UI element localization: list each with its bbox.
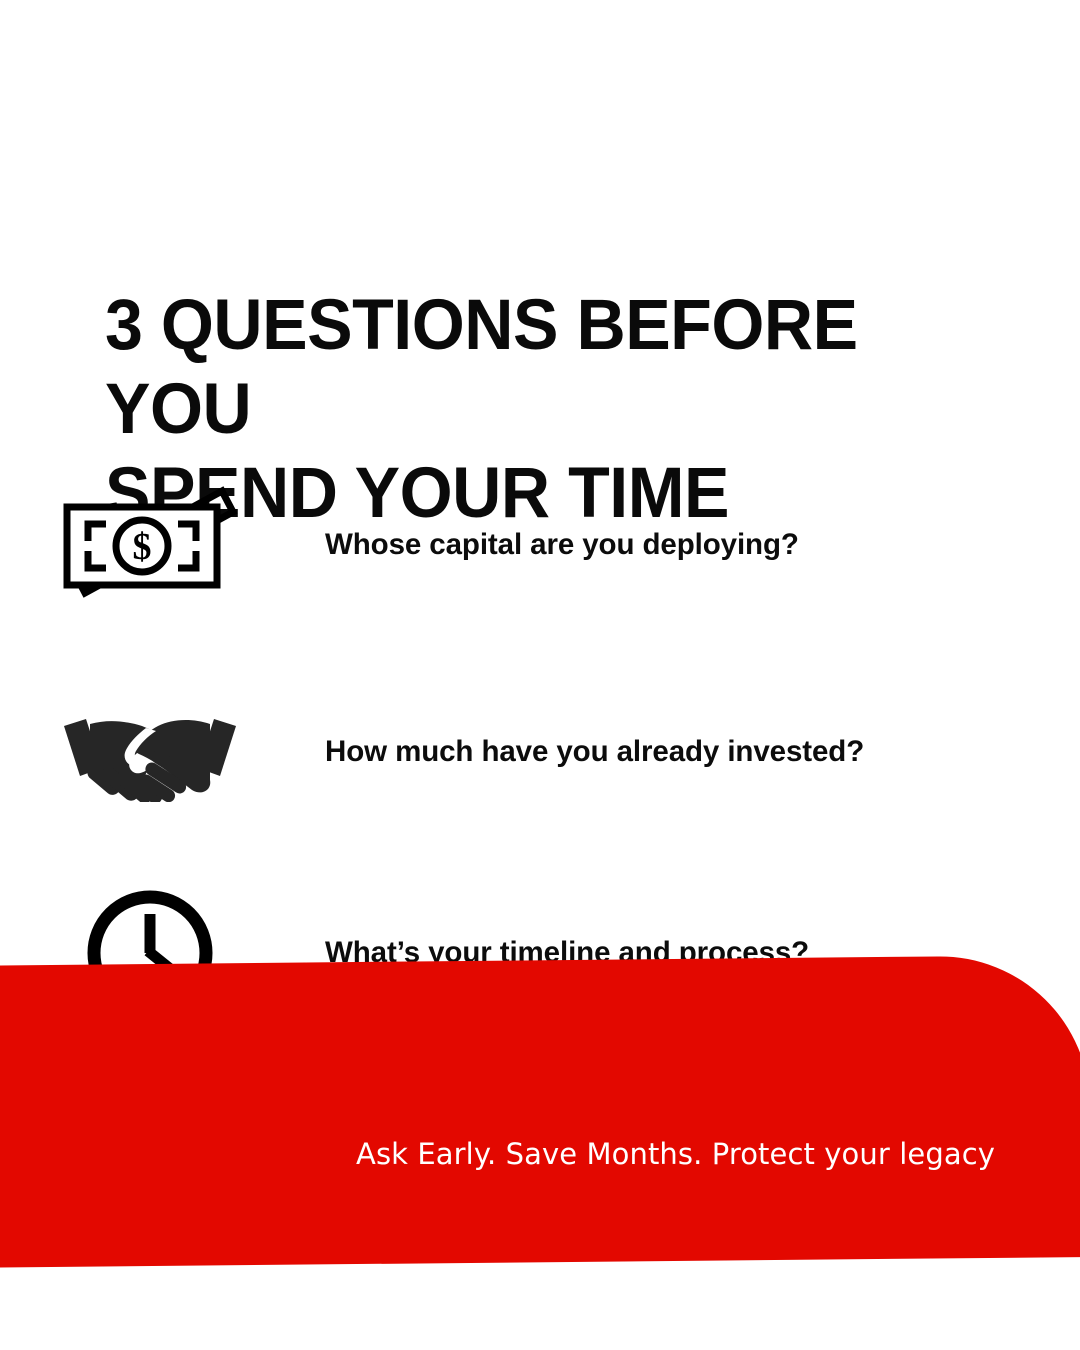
- footer-banner-shape: [0, 955, 1080, 1271]
- money-banknotes-icon: $: [0, 465, 290, 625]
- question-row: $ Whose capital are you deploying?: [0, 465, 1080, 625]
- footer-tagline: Ask Early. Save Months. Protect your leg…: [356, 1133, 1056, 1175]
- question-label: Whose capital are you deploying?: [325, 527, 799, 563]
- question-row: How much have you already invested?: [0, 672, 1080, 832]
- handshake-icon: [0, 672, 290, 832]
- question-label: How much have you already invested?: [325, 734, 864, 770]
- poster-canvas: 3 QUESTIONS BEFORE YOU SPEND YOUR TIME $…: [0, 0, 1080, 1350]
- svg-text:$: $: [132, 526, 151, 568]
